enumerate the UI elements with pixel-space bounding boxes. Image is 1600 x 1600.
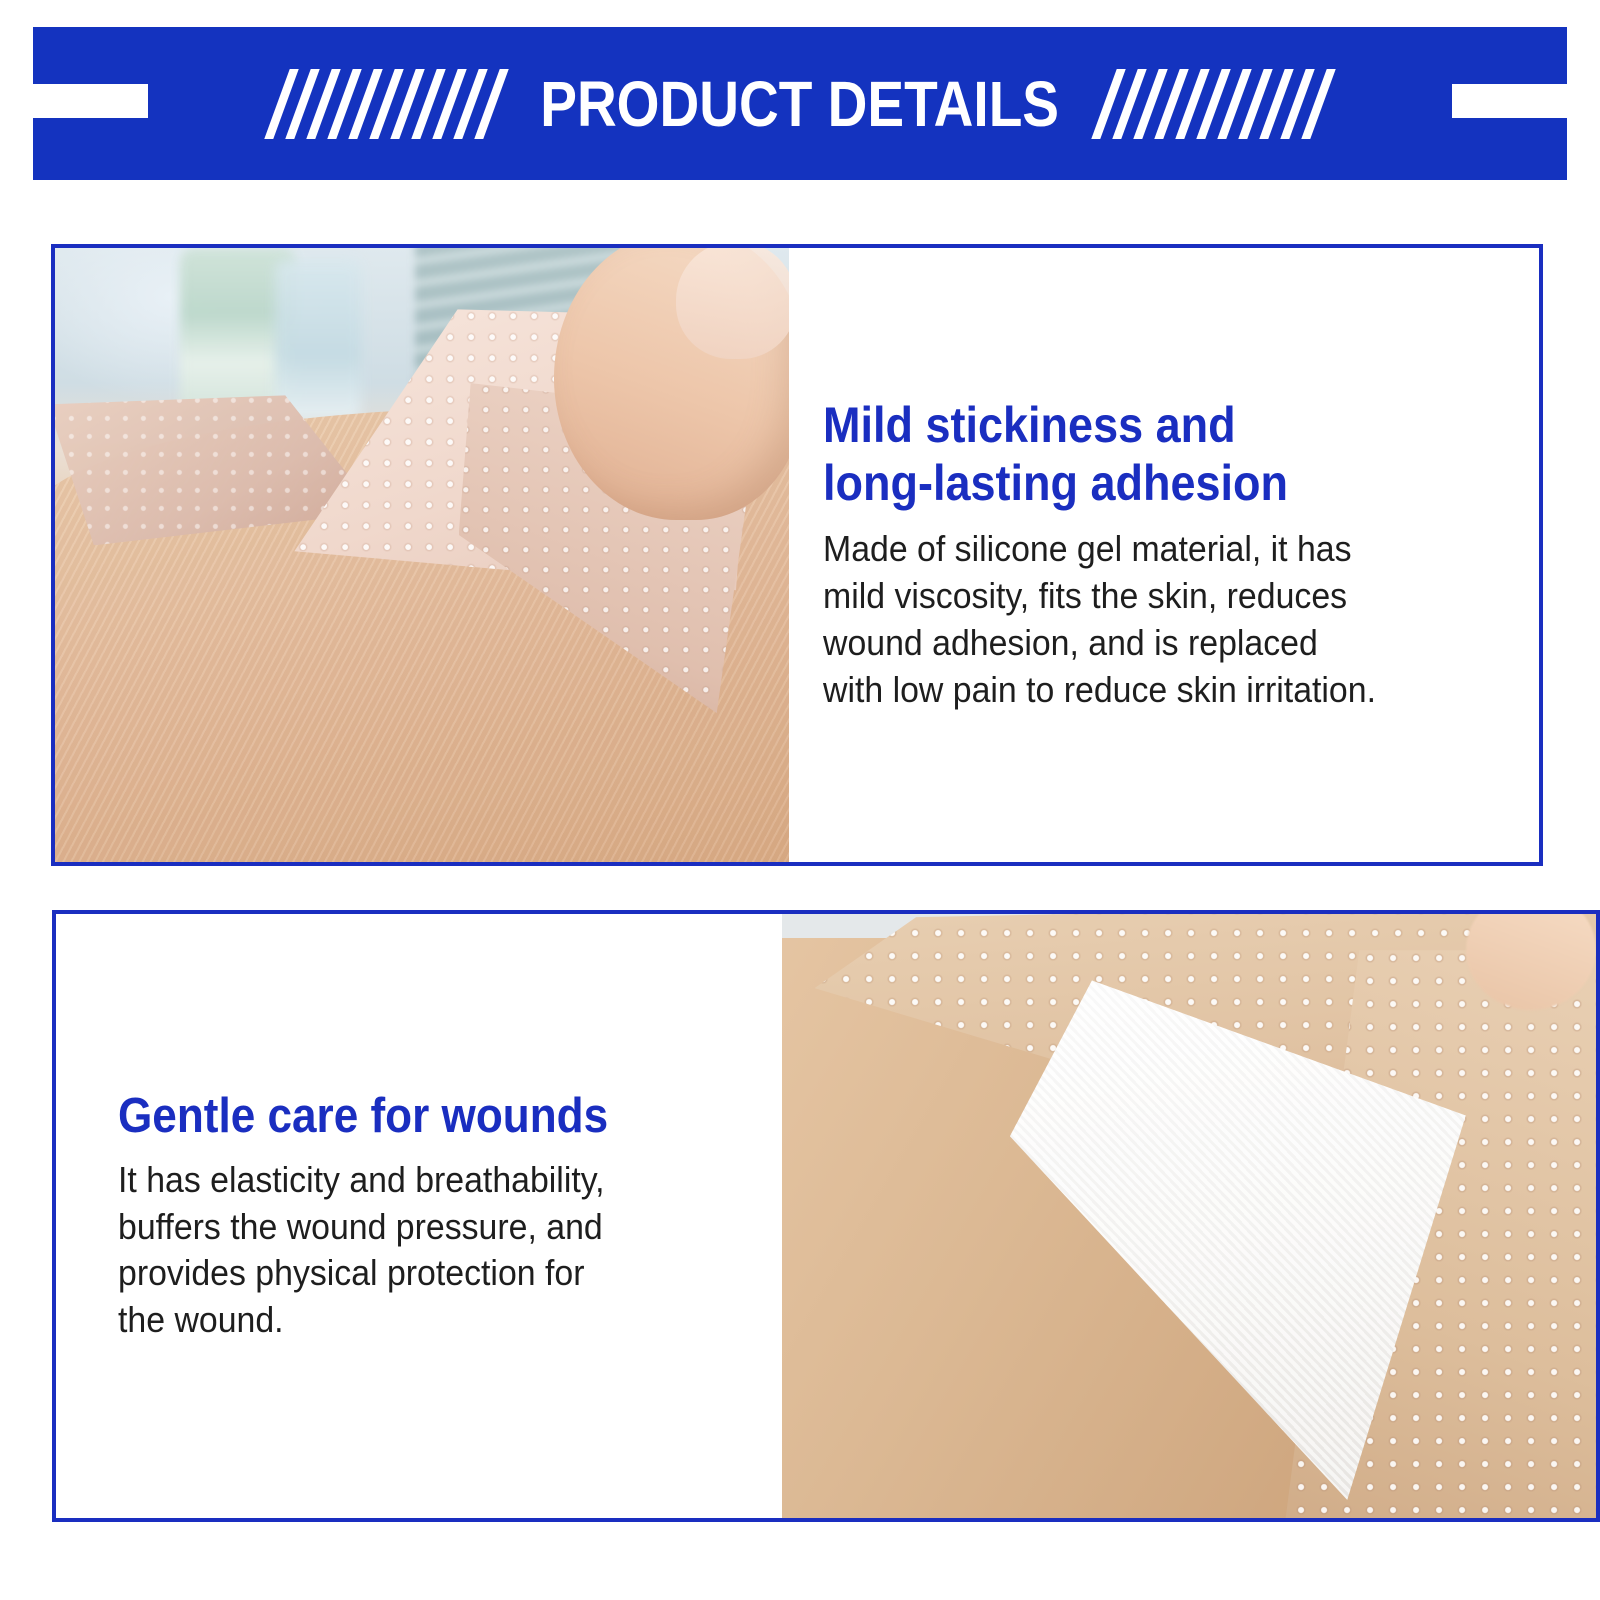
product-photo-foam-pad (782, 914, 1596, 1518)
feature-2-body: It has elasticity and breathability, buf… (118, 1157, 705, 1344)
feature-card-1-body: Mild stickiness and long-lasting adhesio… (55, 248, 1539, 862)
feature-2-heading: Gentle care for wounds (118, 1088, 680, 1145)
feature-card-2-text: Gentle care for wounds It has elasticity… (56, 914, 782, 1518)
slash-decoration-left-icon (277, 69, 496, 139)
feature-card-1-text: Mild stickiness and long-lasting adhesio… (789, 248, 1539, 862)
banner-content: PRODUCT DETAILS (33, 27, 1567, 180)
feature-card-1: Mild stickiness and long-lasting adhesio… (51, 244, 1543, 866)
slash-decoration-right-icon (1104, 69, 1323, 139)
feature-1-body: Made of silicone gel material, it has mi… (823, 526, 1460, 713)
feature-card-2: Gentle care for wounds It has elasticity… (52, 910, 1600, 1522)
product-details-banner: PRODUCT DETAILS (33, 27, 1567, 180)
feature-card-2-body: Gentle care for wounds It has elasticity… (56, 914, 1596, 1518)
product-photo-peeling-patch (55, 248, 789, 862)
fingernail (676, 248, 789, 359)
feature-1-heading: Mild stickiness and long-lasting adhesio… (823, 396, 1433, 512)
background-bottle-secondary-icon (275, 260, 361, 420)
page-title: PRODUCT DETAILS (539, 72, 1061, 136)
